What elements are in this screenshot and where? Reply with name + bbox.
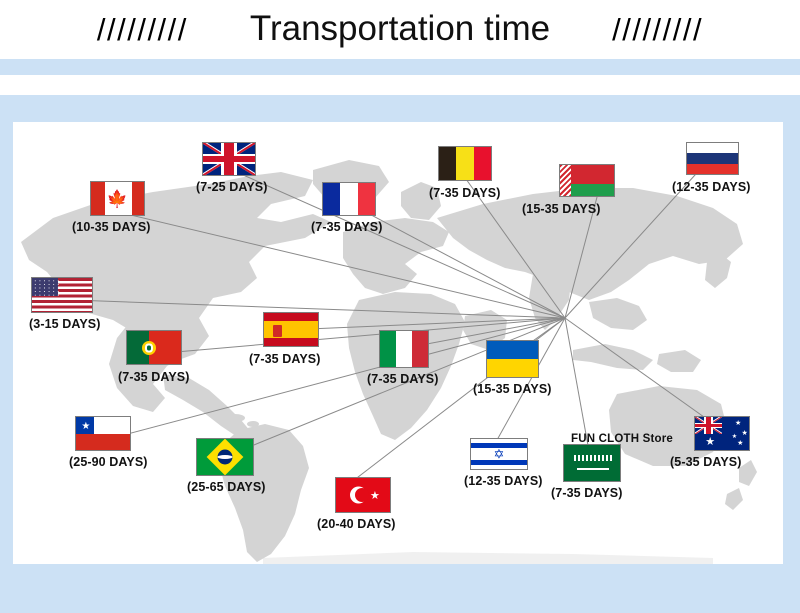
days-united-kingdom: (7-25 DAYS) [196,180,268,194]
marker-united-states[interactable]: (3-15 DAYS) [31,277,93,313]
world-map-panel: FUN CLOTH Store 🍁 (10-35 DAYS) (7-25 DAY… [13,122,783,564]
flag-united-states [31,277,93,313]
marker-turkey[interactable]: ★ (20-40 DAYS) [335,477,391,513]
marker-canada[interactable]: 🍁 (10-35 DAYS) [90,181,145,216]
flag-france [322,182,376,216]
days-australia: (5-35 DAYS) [670,455,742,469]
days-belgium: (7-35 DAYS) [429,186,501,200]
marker-israel[interactable]: ✡ (12-35 DAYS) [470,438,528,470]
flag-belarus [559,164,615,197]
flag-chile: ★ [75,416,131,451]
marker-belarus[interactable]: (15-35 DAYS) [559,164,615,197]
days-france: (7-35 DAYS) [311,220,383,234]
marker-brazil[interactable]: (25-65 DAYS) [196,438,254,476]
page-title: Transportation time [250,9,550,49]
days-russia: (12-35 DAYS) [672,180,751,194]
flag-united-kingdom [202,142,256,176]
flag-turkey: ★ [335,477,391,513]
days-belarus: (15-35 DAYS) [522,202,601,216]
marker-ukraine[interactable]: (15-35 DAYS) [486,340,539,378]
days-chile: (25-90 DAYS) [69,455,148,469]
marker-portugal[interactable]: (7-35 DAYS) [126,330,182,365]
marker-russia[interactable]: (12-35 DAYS) [686,142,739,175]
marker-united-kingdom[interactable]: (7-25 DAYS) [202,142,256,176]
flag-saudi-arabia [563,444,621,482]
flag-israel: ✡ [470,438,528,470]
flag-australia: ★ ★ ★ ★ ★ [694,416,750,451]
days-united-states: (3-15 DAYS) [29,317,101,331]
marker-belgium[interactable]: (7-35 DAYS) [438,146,492,181]
flag-russia [686,142,739,175]
flag-spain [263,312,319,347]
days-portugal: (7-35 DAYS) [118,370,190,384]
days-turkey: (20-40 DAYS) [317,517,396,531]
days-brazil: (25-65 DAYS) [187,480,266,494]
days-ukraine: (15-35 DAYS) [473,382,552,396]
marker-saudi-arabia[interactable]: (7-35 DAYS) [563,444,621,482]
flag-brazil [196,438,254,476]
marker-france[interactable]: (7-35 DAYS) [322,182,376,216]
days-saudi-arabia: (7-35 DAYS) [551,486,623,500]
page-header: ///////// Transportation time ///////// [0,0,800,58]
flag-portugal [126,330,182,365]
flag-belgium [438,146,492,181]
days-canada: (10-35 DAYS) [72,220,151,234]
days-spain: (7-35 DAYS) [249,352,321,366]
days-israel: (12-35 DAYS) [464,474,543,488]
days-italy: (7-35 DAYS) [367,372,439,386]
marker-italy[interactable]: (7-35 DAYS) [379,330,429,368]
flag-italy [379,330,429,368]
marker-australia[interactable]: ★ ★ ★ ★ ★ (5-35 DAYS) [694,416,750,451]
flag-ukraine [486,340,539,378]
marker-spain[interactable]: (7-35 DAYS) [263,312,319,347]
right-slash-decoration: ///////// [612,14,703,45]
marker-chile[interactable]: ★ (25-90 DAYS) [75,416,131,451]
left-slash-decoration: ///////// [97,14,188,45]
flag-canada: 🍁 [90,181,145,216]
header-divider-bar [0,59,800,75]
